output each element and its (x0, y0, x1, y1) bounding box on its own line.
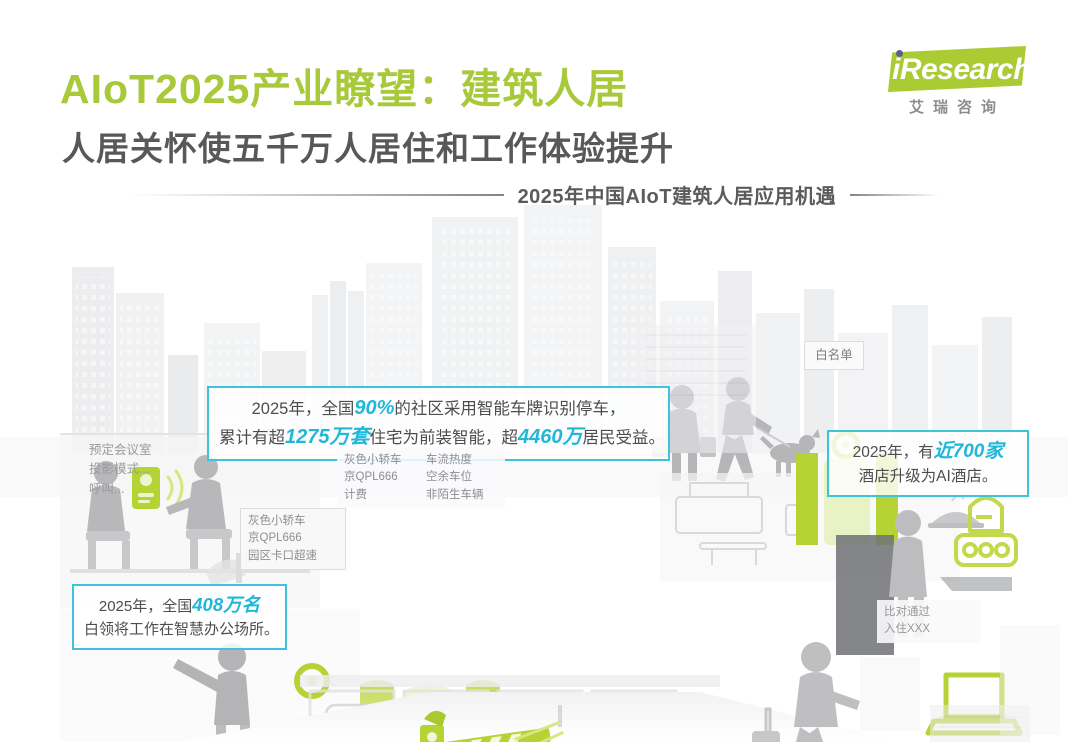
section-rule-left (130, 194, 504, 196)
card-hotel-checkin: 比对通过 入住XXX (877, 600, 981, 643)
card-checkin-line-1: 比对通过 (884, 604, 974, 621)
stat-90-percent: 90% (354, 397, 394, 419)
callout-ai-hotel: 2025年，有近700家 酒店升级为AI酒店。 (827, 430, 1029, 497)
card-lot-row-1: 灰色小轿车 车流热度 (344, 452, 498, 469)
logo-chinese-name: 艾瑞咨询 (888, 96, 1026, 117)
card-parking-status: 灰色小轿车 车流热度 京QPL666 空余车位 计费 非陌生车辆 (337, 448, 505, 508)
card-meeting-room: 预定会议室 投影模式... 呼叫... (82, 437, 159, 503)
section-rule-right (850, 194, 940, 196)
card-meeting-line-3: 呼叫... (89, 480, 152, 499)
card-plate-line-3: 园区卡口超速 (248, 548, 338, 565)
callout-hotel-line1: 2025年，有近700家 (839, 438, 1017, 466)
iresearch-logo: iResearch 艾瑞咨询 (878, 44, 1026, 122)
card-meeting-line-2: 投影模式... (89, 460, 152, 479)
card-checkin-line-2: 入住XXX (884, 621, 974, 638)
callout-office-line1: 2025年，全国408万名 (84, 592, 275, 619)
logo-wordmark: iResearch (892, 53, 1024, 87)
card-plate-recognition: 灰色小轿车 京QPL666 园区卡口超速 (240, 508, 346, 570)
page-title: AIoT2025产业瞭望：建筑人居 (60, 55, 628, 115)
card-whitelist-tag: 白名单 (804, 341, 864, 370)
card-lot-left-1: 灰色小轿车 (344, 452, 416, 469)
stat-4460-wan: 4460万 (518, 426, 583, 448)
callout-main-line1: 2025年，全国90%的社区采用智能车牌识别停车， (219, 394, 658, 423)
card-lot-right-1: 车流热度 (426, 452, 472, 469)
card-meeting-line-1: 预定会议室 (89, 441, 152, 460)
card-plate-line-1: 灰色小轿车 (248, 513, 338, 530)
stat-1275-wan-tao: 1275万套 (285, 426, 370, 448)
service-robot (956, 498, 1016, 565)
card-lot-right-2: 空余车位 (426, 469, 472, 486)
robot-tray (940, 577, 1012, 591)
stat-408-wan-ming: 408万名 (192, 594, 260, 615)
callout-office-line2: 白领将工作在智慧办公场所。 (84, 619, 275, 641)
infographic-page: AIoT2025产业瞭望：建筑人居 人居关怀使五千万人居住和工作体验提升 iRe… (0, 0, 1068, 742)
page-subtitle: 人居关怀使五千万人居住和工作体验提升 (62, 122, 674, 170)
card-lot-row-3: 计费 非陌生车辆 (344, 487, 498, 504)
card-lot-row-2: 京QPL666 空余车位 (344, 469, 498, 486)
card-plate-line-2: 京QPL666 (248, 530, 338, 547)
stat-near-700: 近700家 (934, 441, 1004, 462)
card-lot-right-3: 非陌生车辆 (426, 487, 484, 504)
callout-hotel-line2: 酒店升级为AI酒店。 (839, 466, 1017, 488)
callout-smart-office: 2025年，全国408万名 白领将工作在智慧办公场所。 (72, 584, 287, 650)
logo-i-dot (896, 50, 903, 57)
card-lot-left-2: 京QPL666 (344, 469, 416, 486)
card-lot-left-3: 计费 (344, 487, 416, 504)
